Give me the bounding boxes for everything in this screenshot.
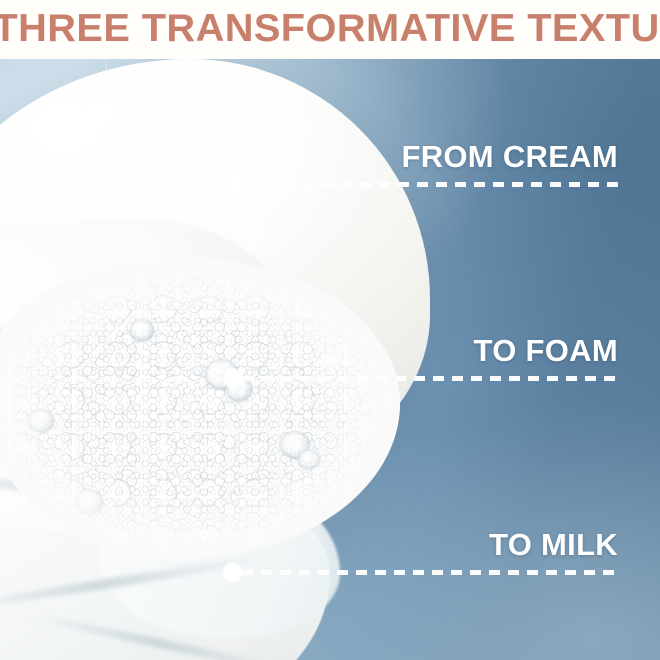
- header-band: THREE TRANSFORMATIVE TEXTURES: [0, 0, 660, 59]
- callout-to-milk: TO MILK: [0, 0, 660, 660]
- callout-label-to-milk: TO MILK: [489, 528, 618, 562]
- page-title: THREE TRANSFORMATIVE TEXTURES: [0, 7, 660, 51]
- callout-dot-to-milk: [223, 563, 242, 582]
- product-promo-image: FROM CREAM TO FOAM TO MILK THREE TRANSFO…: [0, 0, 660, 660]
- callout-dashed-line-to-milk: [242, 570, 618, 575]
